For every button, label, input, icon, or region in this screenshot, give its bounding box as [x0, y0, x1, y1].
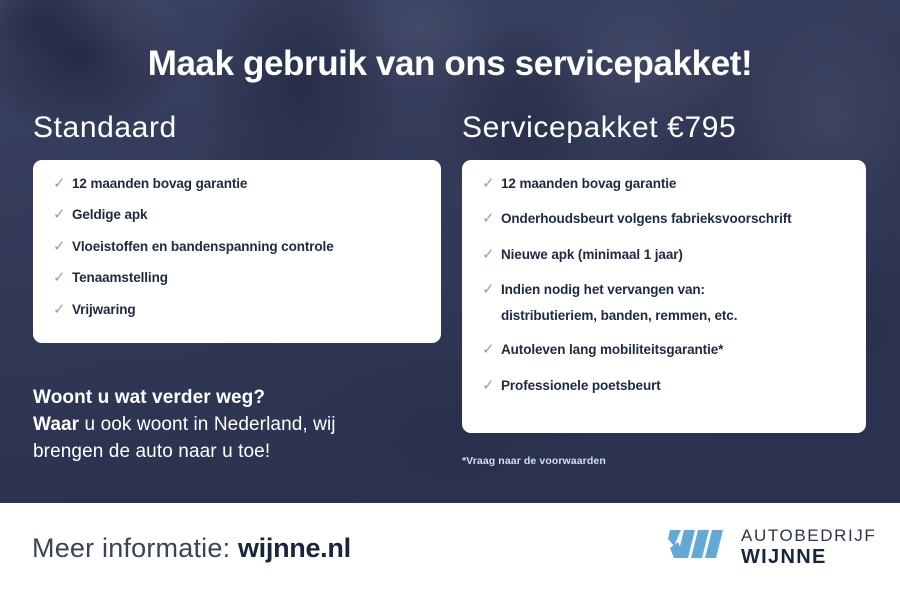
- column-standaard: Standaard ✓ 12 maanden bovag garantie ✓ …: [33, 112, 441, 343]
- column-title-standaard: Standaard: [33, 112, 441, 144]
- list-item: ✓ 12 maanden bovag garantie: [482, 176, 848, 193]
- list-item: ✓ 12 maanden bovag garantie: [53, 176, 423, 193]
- list-item: ✓ Tenaamstelling: [53, 270, 423, 287]
- feature-label: Vrijwaring: [72, 302, 423, 318]
- list-item: ✓ Vloeistoffen en bandenspanning control…: [53, 239, 423, 256]
- feature-label: Autoleven lang mobiliteitsgarantie*: [501, 342, 848, 358]
- feature-list-servicepakket: ✓ 12 maanden bovag garantie ✓ Onderhouds…: [482, 176, 848, 395]
- logo-wordmark: AUTOBEDRIJF WIJNNE: [741, 527, 876, 567]
- wijnne-w-logo-icon: [668, 522, 730, 571]
- checkmark-icon: ✓: [482, 211, 497, 228]
- feature-label: 12 maanden bovag garantie: [72, 176, 423, 192]
- checkmark-icon: ✓: [53, 302, 68, 319]
- promo-answer: Waar u ook woont in Nederland, wij: [33, 412, 433, 439]
- feature-label: Nieuwe apk (minimaal 1 jaar): [501, 247, 848, 263]
- checkmark-icon: ✓: [482, 342, 497, 359]
- feature-label: Indien nodig het vervangen van:: [501, 282, 705, 297]
- list-item: ✓ Vrijwaring: [53, 302, 423, 319]
- logo-bottom-word: WIJNNE: [741, 547, 876, 567]
- promo-question-label: Woont u wat verder weg?: [33, 387, 265, 408]
- terms-footnote: *Vraag naar de voorwaarden: [462, 455, 606, 467]
- promo-answer-strong: Waar: [33, 414, 79, 435]
- service-package-poster: Maak gebruik van ons servicepakket! Stan…: [0, 0, 900, 600]
- more-info-text: Meer informatie: wijnne.nl: [32, 533, 351, 564]
- checkmark-icon: ✓: [482, 282, 497, 299]
- feature-list-standaard: ✓ 12 maanden bovag garantie ✓ Geldige ap…: [53, 176, 423, 319]
- list-item: ✓ Indien nodig het vervangen van: distri…: [482, 282, 848, 323]
- column-servicepakket: Servicepakket €795 ✓ 12 maanden bovag ga…: [462, 112, 866, 433]
- company-logo: AUTOBEDRIJF WIJNNE: [668, 522, 876, 571]
- column-title-servicepakket: Servicepakket €795: [462, 112, 866, 144]
- logo-top-word: AUTOBEDRIJF: [741, 527, 876, 544]
- promo-answer-rest: u ook woont in Nederland, wij: [79, 414, 335, 435]
- website-link[interactable]: wijnne.nl: [238, 533, 351, 563]
- promo-answer-line2: brengen de auto naar u toe!: [33, 439, 433, 466]
- checkmark-icon: ✓: [482, 176, 497, 193]
- checkmark-icon: ✓: [482, 378, 497, 395]
- list-item: ✓ Onderhoudsbeurt volgens fabrieksvoorsc…: [482, 211, 848, 228]
- feature-label: Vloeistoffen en bandenspanning controle: [72, 239, 423, 255]
- list-item: ✓ Professionele poetsbeurt: [482, 378, 848, 395]
- checkmark-icon: ✓: [53, 270, 68, 287]
- list-item: ✓ Autoleven lang mobiliteitsgarantie*: [482, 342, 848, 359]
- feature-label: Onderhoudsbeurt volgens fabrieksvoorschr…: [501, 211, 848, 227]
- page-title: Maak gebruik van ons servicepakket!: [0, 44, 900, 84]
- delivery-promo-text: Woont u wat verder weg? Waar u ook woont…: [33, 385, 433, 466]
- list-item: ✓ Nieuwe apk (minimaal 1 jaar): [482, 247, 848, 264]
- checkmark-icon: ✓: [482, 247, 497, 264]
- checkmark-icon: ✓: [53, 176, 68, 193]
- feature-label: Geldige apk: [72, 207, 423, 223]
- feature-card-servicepakket: ✓ 12 maanden bovag garantie ✓ Onderhouds…: [462, 160, 866, 433]
- feature-label: Tenaamstelling: [72, 270, 423, 286]
- feature-label: 12 maanden bovag garantie: [501, 176, 848, 192]
- feature-card-standaard: ✓ 12 maanden bovag garantie ✓ Geldige ap…: [33, 160, 441, 343]
- more-info-label: Meer informatie:: [32, 533, 238, 563]
- checkmark-icon: ✓: [53, 239, 68, 256]
- feature-sublabel: distributieriem, banden, remmen, etc.: [501, 308, 848, 324]
- feature-label: Professionele poetsbeurt: [501, 378, 848, 394]
- promo-question: Woont u wat verder weg?: [33, 385, 433, 412]
- list-item: ✓ Geldige apk: [53, 207, 423, 224]
- checkmark-icon: ✓: [53, 207, 68, 224]
